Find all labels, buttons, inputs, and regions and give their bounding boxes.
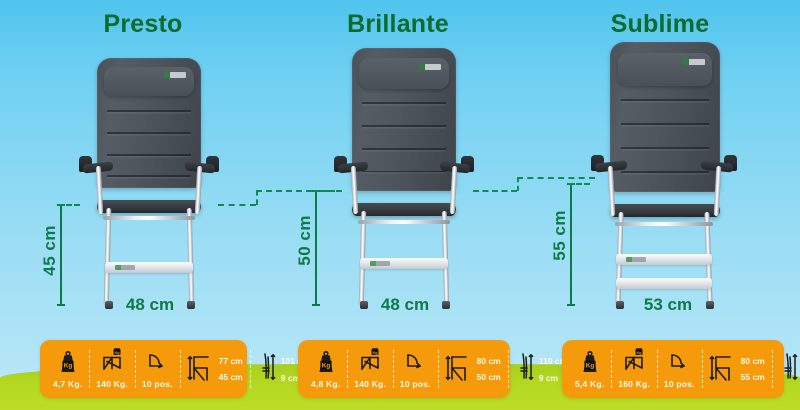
seat-dash-step-presto <box>256 190 258 205</box>
chair-side-dimensions-icon <box>709 354 739 384</box>
spec-max-load-value: 140 Kg. <box>96 379 128 389</box>
frame-leg-front-left <box>104 208 112 306</box>
crossbar-logo-icon <box>115 265 135 270</box>
seat-dash-presto-left <box>58 204 80 206</box>
chair-folded-dimensions-icon <box>515 354 537 384</box>
height-line-brillante <box>315 190 317 306</box>
frame-rail-upper <box>615 222 713 226</box>
spec-max-load: Kg 160 Kg. <box>611 344 657 394</box>
frame-rail-upper <box>358 220 450 224</box>
frame-rail-upper <box>103 216 195 220</box>
svg-text:Kg: Kg <box>585 363 594 370</box>
spec-max-load: Kg 140 Kg. <box>89 344 135 394</box>
weight-kg-icon: Kg <box>57 347 79 377</box>
spec-positions: 10 pos. <box>135 344 180 394</box>
spec-side-top-value: 77 cm <box>219 356 243 366</box>
model-title-presto: Presto <box>103 10 182 39</box>
spec-panel-sublime: Kg 5,4 Kg. Kg 160 Kg. 10 pos. 80 cm 55 c… <box>562 340 784 398</box>
foot-right <box>442 301 450 309</box>
svg-text:Kg: Kg <box>373 351 378 355</box>
chair-presto <box>75 58 223 306</box>
foot-left <box>616 301 624 309</box>
chair-load-icon: Kg <box>357 347 383 377</box>
frame-crossbar <box>105 262 193 273</box>
frame-crossbar-upper <box>616 254 712 265</box>
spec-positions-value: 10 pos. <box>142 379 173 389</box>
spec-side-dimensions: 80 cm 50 cm <box>438 344 508 394</box>
foot-right <box>706 301 714 309</box>
model-title-sublime: Sublime <box>611 10 710 39</box>
recline-positions-icon <box>403 347 427 377</box>
chair-side-dimensions-icon <box>445 354 475 384</box>
brand-logo-icon <box>164 72 186 78</box>
weight-kg-icon: Kg <box>315 347 337 377</box>
crossbar-logo-icon <box>370 261 390 266</box>
chair-folded-dimensions-icon <box>779 354 800 384</box>
height-label-presto: 45 cm <box>40 225 60 276</box>
height-label-sublime: 55 cm <box>550 210 570 261</box>
spec-max-load-value: 140 Kg. <box>354 379 386 389</box>
comparison-stage: Presto Brillante Sublime 45 cm 48 cm <box>0 0 800 410</box>
frame-crossbar <box>360 258 448 269</box>
spec-side-bottom-value: 45 cm <box>219 372 243 382</box>
seat-dash-presto-right <box>218 204 256 206</box>
crossbar-logo-icon <box>626 257 646 262</box>
seat-dash-step-brillante <box>517 177 519 191</box>
brand-logo-icon <box>683 59 705 65</box>
seat-dash-brillante-left <box>313 190 335 192</box>
spec-side-dimensions: 77 cm 45 cm <box>180 344 250 394</box>
frame-upright-right <box>195 166 203 214</box>
height-line-presto <box>60 204 62 306</box>
frame-upright-right <box>450 166 458 214</box>
spec-side-bottom-value: 55 cm <box>741 372 765 382</box>
seat-dash-sublime-left <box>568 183 590 185</box>
svg-text:Kg: Kg <box>63 363 72 370</box>
spec-positions-value: 10 pos. <box>664 379 695 389</box>
chair-load-icon: Kg <box>621 347 647 377</box>
svg-text:Kg: Kg <box>321 363 330 370</box>
spec-panel-presto: Kg 4,7 Kg. Kg 140 Kg. 10 pos. 77 cm 45 c… <box>40 340 247 398</box>
seat <box>352 203 456 216</box>
foot-left <box>105 301 113 309</box>
frame-leg-front-right <box>187 208 195 306</box>
spec-positions-value: 10 pos. <box>400 379 431 389</box>
recline-positions-icon <box>667 347 691 377</box>
width-label-sublime: 53 cm <box>644 295 692 315</box>
spec-side-dimensions: 80 cm 55 cm <box>702 344 772 394</box>
spec-folded-dimensions: 115 cm 9,5 cm <box>772 344 800 394</box>
spec-positions: 10 pos. <box>393 344 438 394</box>
brand-logo-icon <box>419 64 441 70</box>
frame-crossbar-lower <box>616 278 712 289</box>
seat-dash-link-2 <box>517 177 595 179</box>
spec-weight: Kg 4,7 Kg. <box>46 344 89 394</box>
spec-weight: Kg 5,4 Kg. <box>568 344 611 394</box>
spec-positions: 10 pos. <box>657 344 702 394</box>
svg-text:Kg: Kg <box>115 351 120 355</box>
spec-weight-value: 4,7 Kg. <box>53 379 82 389</box>
seat <box>97 200 201 213</box>
width-label-presto: 48 cm <box>126 295 174 315</box>
chair-sublime <box>588 42 740 306</box>
spec-weight-value: 4,8 Kg. <box>311 379 340 389</box>
spec-panel-brillante: Kg 4,8 Kg. Kg 140 Kg. 10 pos. 80 cm 50 c… <box>298 340 510 398</box>
spec-weight: Kg 4,8 Kg. <box>304 344 347 394</box>
svg-text:Kg: Kg <box>637 351 642 355</box>
chair-brillante <box>330 48 478 306</box>
foot-left <box>360 301 368 309</box>
spec-side-top-value: 80 cm <box>741 356 765 366</box>
width-label-brillante: 48 cm <box>381 295 429 315</box>
height-line-sublime <box>570 183 572 306</box>
spec-weight-value: 5,4 Kg. <box>575 379 604 389</box>
foot-right <box>187 301 195 309</box>
spec-max-load: Kg 140 Kg. <box>347 344 393 394</box>
recline-positions-icon <box>145 347 169 377</box>
weight-kg-icon: Kg <box>579 347 601 377</box>
chair-folded-dimensions-icon <box>257 354 279 384</box>
chair-side-dimensions-icon <box>187 354 217 384</box>
chair-load-icon: Kg <box>99 347 125 377</box>
model-title-brillante: Brillante <box>347 10 449 39</box>
seat-dash-brillante-right <box>473 190 517 192</box>
spec-side-bottom-value: 50 cm <box>477 372 501 382</box>
height-label-brillante: 50 cm <box>295 215 315 266</box>
spec-side-top-value: 80 cm <box>477 356 501 366</box>
spec-max-load-value: 160 Kg. <box>618 379 650 389</box>
